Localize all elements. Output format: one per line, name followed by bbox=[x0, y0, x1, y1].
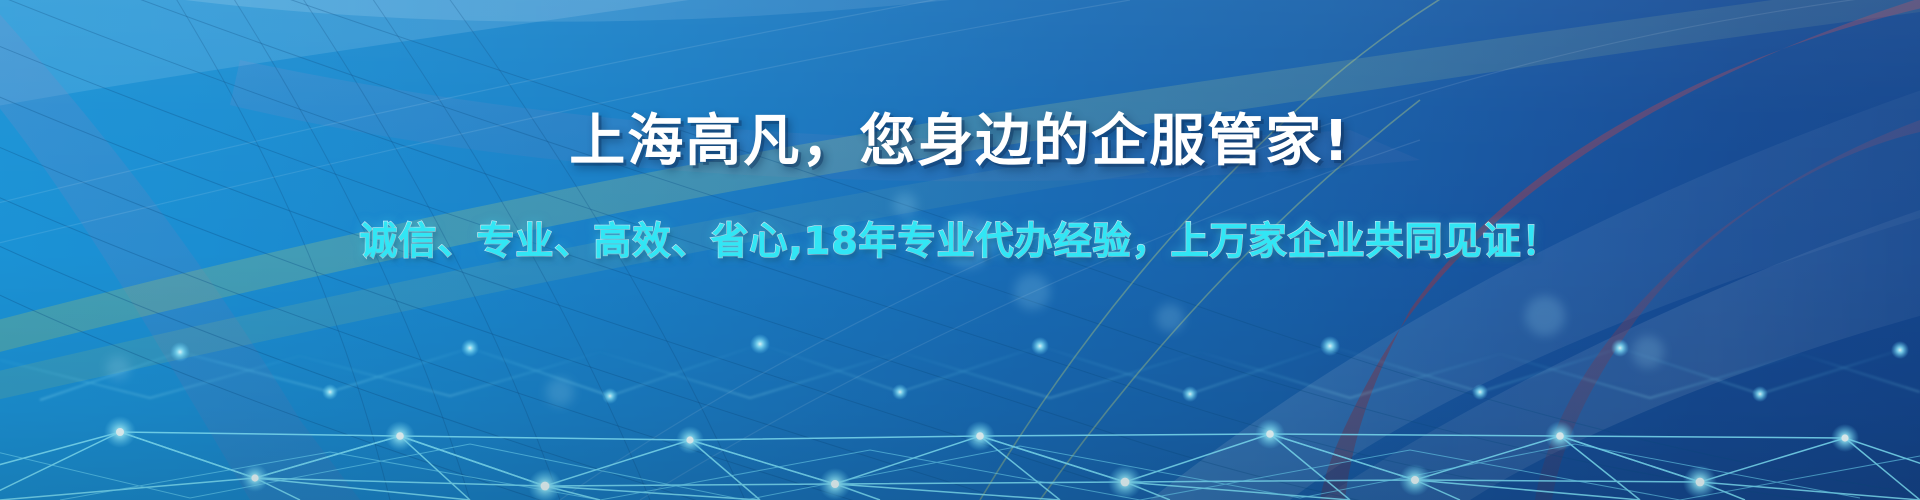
banner-subheadline: 诚信、专业、高效、省心,18年专业代办经验，上万家企业共同见证！ bbox=[359, 220, 1560, 264]
banner-headline: 上海高凡，您身边的企服管家! bbox=[569, 112, 1351, 172]
promo-banner: 上海高凡，您身边的企服管家! 诚信、专业、高效、省心,18年专业代办经验，上万家… bbox=[0, 0, 1920, 500]
banner-text-block: 上海高凡，您身边的企服管家! 诚信、专业、高效、省心,18年专业代办经验，上万家… bbox=[0, 0, 1920, 500]
